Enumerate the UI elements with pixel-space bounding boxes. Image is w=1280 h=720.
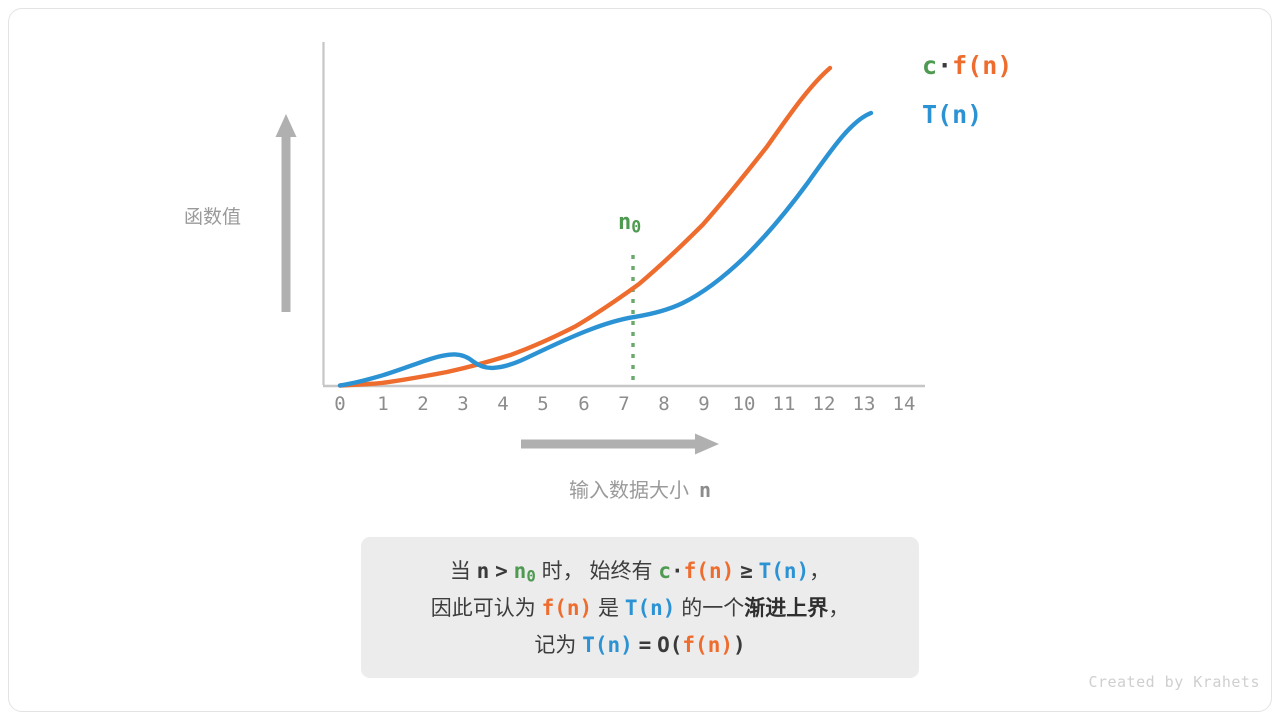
caption-line-1: 当 n > n0 时， 始终有 c·f(n) ≥ T(n)， — [450, 553, 830, 590]
x-tick-8: 8 — [658, 393, 669, 415]
credit-text: Created by Krahets — [1088, 673, 1260, 691]
x-tick-13: 13 — [853, 393, 876, 415]
x-tick-14: 14 — [893, 393, 916, 415]
cap3-bigo-open: O( — [657, 633, 682, 657]
caption-line-3: 记为 T(n) = O(f(n)) — [534, 627, 745, 664]
cap1-n0-base: n — [514, 559, 527, 583]
x-tick-10: 10 — [733, 393, 756, 415]
curve-actual-time — [340, 113, 871, 386]
cap1-function-tn: T(n) — [759, 559, 810, 583]
x-axis-title-text: 输入数据大小 — [569, 480, 689, 502]
cap2-comma: ， — [828, 597, 849, 620]
label-multiply-dot: · — [937, 51, 952, 80]
label-function-tn: T(n) — [922, 100, 982, 129]
x-tick-3: 3 — [457, 393, 468, 415]
cap2-function-tn: T(n) — [625, 596, 676, 620]
x-axis-title: 输入数据大小n — [0, 474, 1280, 503]
x-direction-arrow — [521, 434, 719, 455]
cap2-t2: 是 — [598, 597, 619, 620]
threshold-label-subscript: 0 — [631, 218, 641, 237]
x-tick-1: 1 — [377, 393, 388, 415]
cap1-function-fn: f(n) — [684, 559, 735, 583]
curve-label-actual-time: T(n) — [922, 100, 982, 129]
cap1-op-gte: ≥ — [740, 559, 753, 583]
cap3-bigo-close: ) — [733, 633, 746, 657]
threshold-label-n0: n0 — [618, 210, 641, 237]
curve-label-upper-bound: c·f(n) — [922, 51, 1012, 80]
x-axis-title-variable: n — [699, 478, 711, 502]
cap1-t3: 时， — [542, 560, 584, 583]
x-tick-6: 6 — [578, 393, 589, 415]
cap2-t1: 因此可认为 — [431, 597, 536, 620]
cap2-function-fn: f(n) — [542, 596, 593, 620]
x-tick-0: 0 — [334, 393, 345, 415]
cap2-emphasis-upper-bound: 渐进上界 — [744, 597, 828, 620]
cap3-t1: 记为 — [534, 634, 576, 657]
x-tick-5: 5 — [537, 393, 548, 415]
cap1-multiply-dot: · — [671, 559, 684, 583]
cap3-function-fn: f(n) — [682, 633, 733, 657]
cap1-t1: 当 — [450, 560, 471, 583]
label-function-fn: f(n) — [952, 51, 1012, 80]
x-tick-2: 2 — [417, 393, 428, 415]
x-tick-7: 7 — [618, 393, 629, 415]
x-tick-9: 9 — [698, 393, 709, 415]
cap1-op-gt: > — [495, 559, 508, 583]
cap1-comma: ， — [809, 560, 830, 583]
caption-box: 当 n > n0 时， 始终有 c·f(n) ≥ T(n)， 因此可认为 f(n… — [361, 537, 919, 678]
cap2-t3: 的一个 — [681, 597, 744, 620]
cap1-n0-sub: 0 — [526, 566, 535, 585]
cap1-var-n0: n0 — [514, 559, 536, 583]
x-axis-tick-labels: 0 1 2 3 4 5 6 7 8 9 10 11 12 13 14 — [323, 393, 925, 423]
cap3-op-eq: = — [639, 633, 652, 657]
label-coefficient-c: c — [922, 51, 937, 80]
y-direction-arrow — [276, 114, 297, 312]
y-axis-title: 函数值 — [184, 202, 241, 229]
x-tick-4: 4 — [497, 393, 508, 415]
cap1-var-n: n — [477, 559, 490, 583]
cap1-t4: 始终有 — [590, 560, 653, 583]
x-tick-12: 12 — [813, 393, 836, 415]
x-tick-11: 11 — [773, 393, 796, 415]
curve-upper-bound — [340, 68, 830, 386]
figure-stage: c·f(n) T(n) n0 0 1 2 3 4 5 6 7 8 9 10 11… — [0, 0, 1280, 720]
threshold-label-base: n — [618, 210, 631, 235]
cap3-function-tn: T(n) — [582, 633, 633, 657]
caption-line-2: 因此可认为 f(n) 是 T(n) 的一个渐进上界， — [431, 590, 850, 627]
cap1-coefficient-c: c — [658, 559, 671, 583]
